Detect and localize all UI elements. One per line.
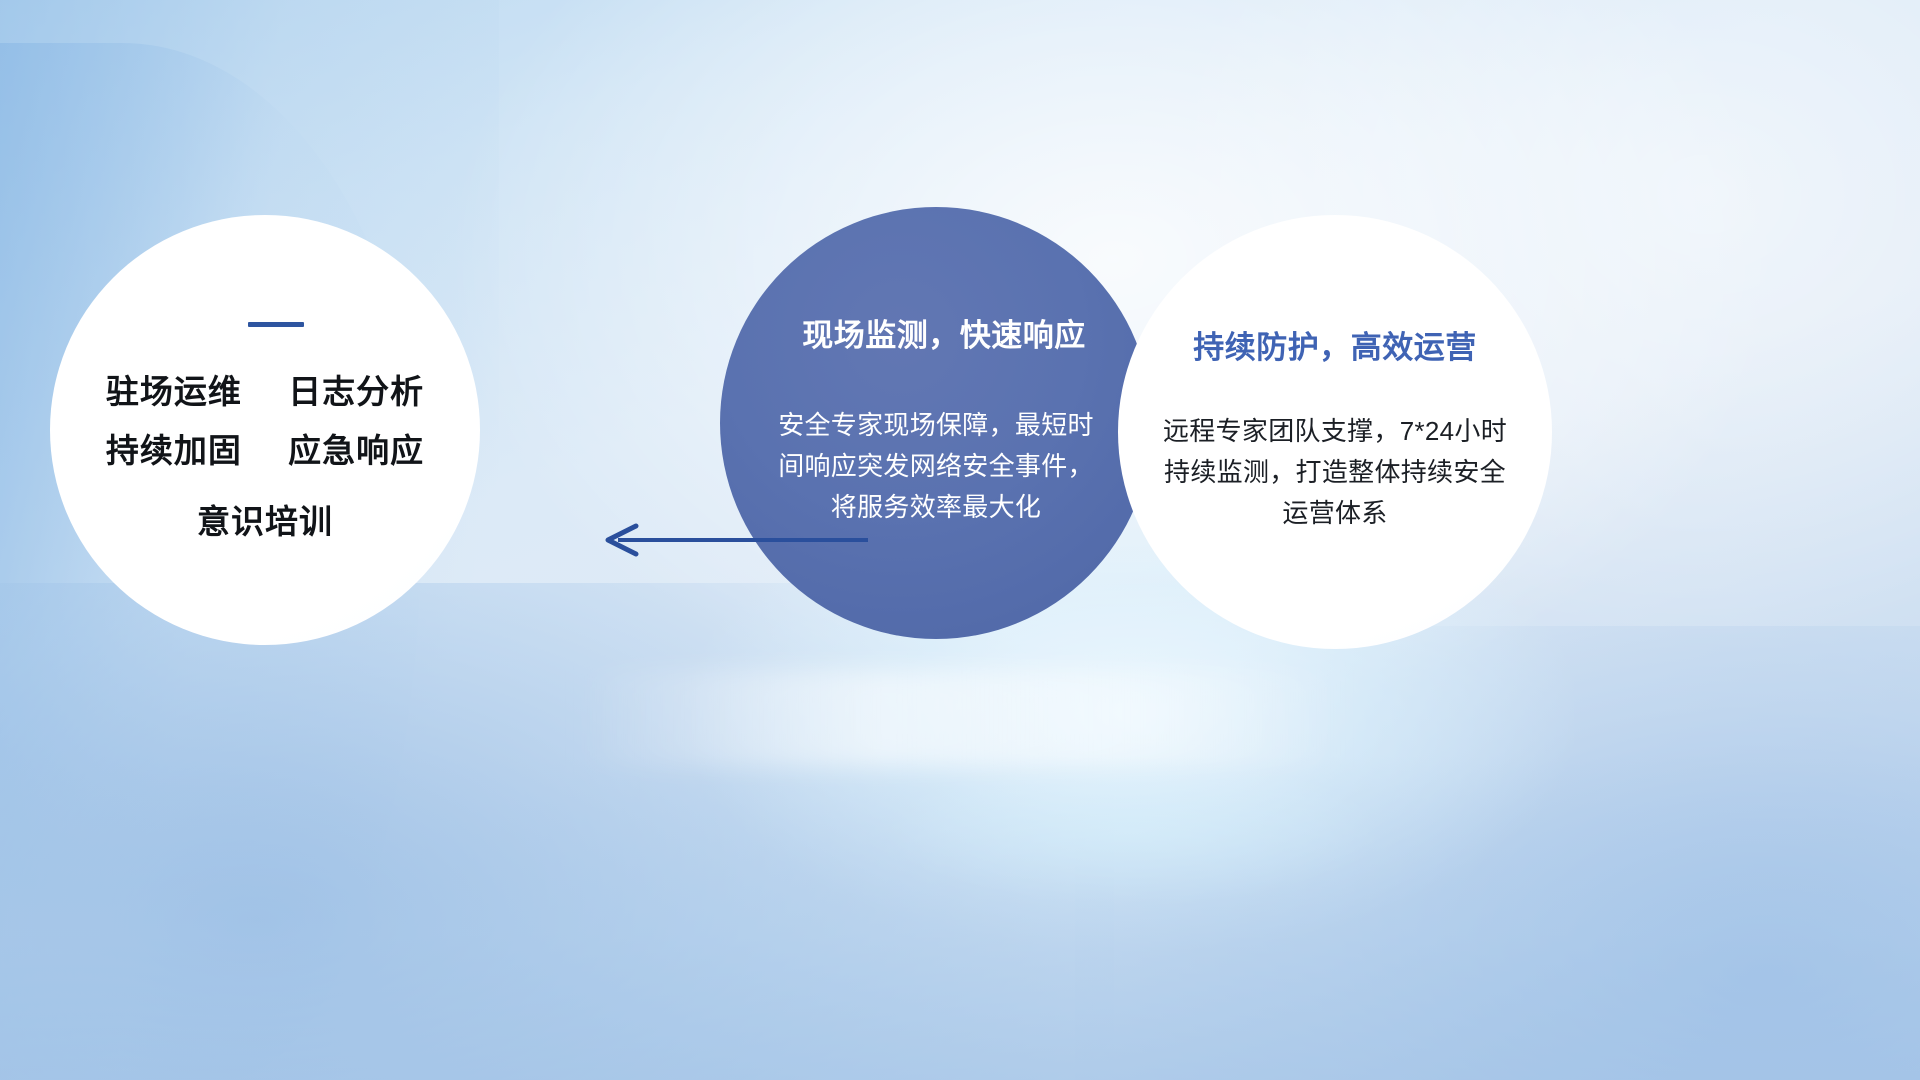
slide-canvas: 驻场运维 日志分析 持续加固 应急响应 意识培训 现场监测，快速响应 安全专家现… (0, 0, 1920, 1080)
keyword-row-1: 驻场运维 日志分析 (106, 375, 424, 408)
background-light-streak (576, 670, 1344, 767)
keyword-label: 意识培训 (197, 503, 333, 540)
keyword-label: 应急响应 (288, 432, 424, 469)
keyword-row-2: 持续加固 应急响应 (106, 434, 424, 467)
middle-circle-body: 安全专家现场保障，最短时间响应突发网络安全事件，将服务效率最大化 (771, 405, 1101, 528)
keyword-row-3: 意识培训 (197, 505, 333, 538)
middle-circle-title: 现场监测，快速响应 (787, 310, 1101, 355)
left-circle-panel: 驻场运维 日志分析 持续加固 应急响应 意识培训 (50, 215, 480, 645)
right-circle-content: 持续防护，高效运营 远程专家团队支撑，7*24小时持续监测，打造整体持续安全运营… (1155, 322, 1515, 534)
background-bottom-vignette (0, 756, 1920, 1080)
left-arrow-icon (596, 520, 868, 560)
right-circle-panel: 持续防护，高效运营 远程专家团队支撑，7*24小时持续监测，打造整体持续安全运营… (1118, 215, 1552, 649)
divider-dash (248, 322, 304, 327)
keyword-label: 日志分析 (288, 373, 424, 410)
keyword-label: 持续加固 (106, 432, 242, 469)
middle-circle-content: 现场监测，快速响应 安全专家现场保障，最短时间响应突发网络安全事件，将服务效率最… (771, 310, 1101, 528)
right-circle-body: 远程专家团队支撑，7*24小时持续监测，打造整体持续安全运营体系 (1155, 411, 1515, 534)
right-circle-title: 持续防护，高效运营 (1155, 322, 1515, 367)
keyword-label: 驻场运维 (106, 373, 242, 410)
middle-circle-panel: 现场监测，快速响应 安全专家现场保障，最短时间响应突发网络安全事件，将服务效率最… (720, 207, 1152, 639)
